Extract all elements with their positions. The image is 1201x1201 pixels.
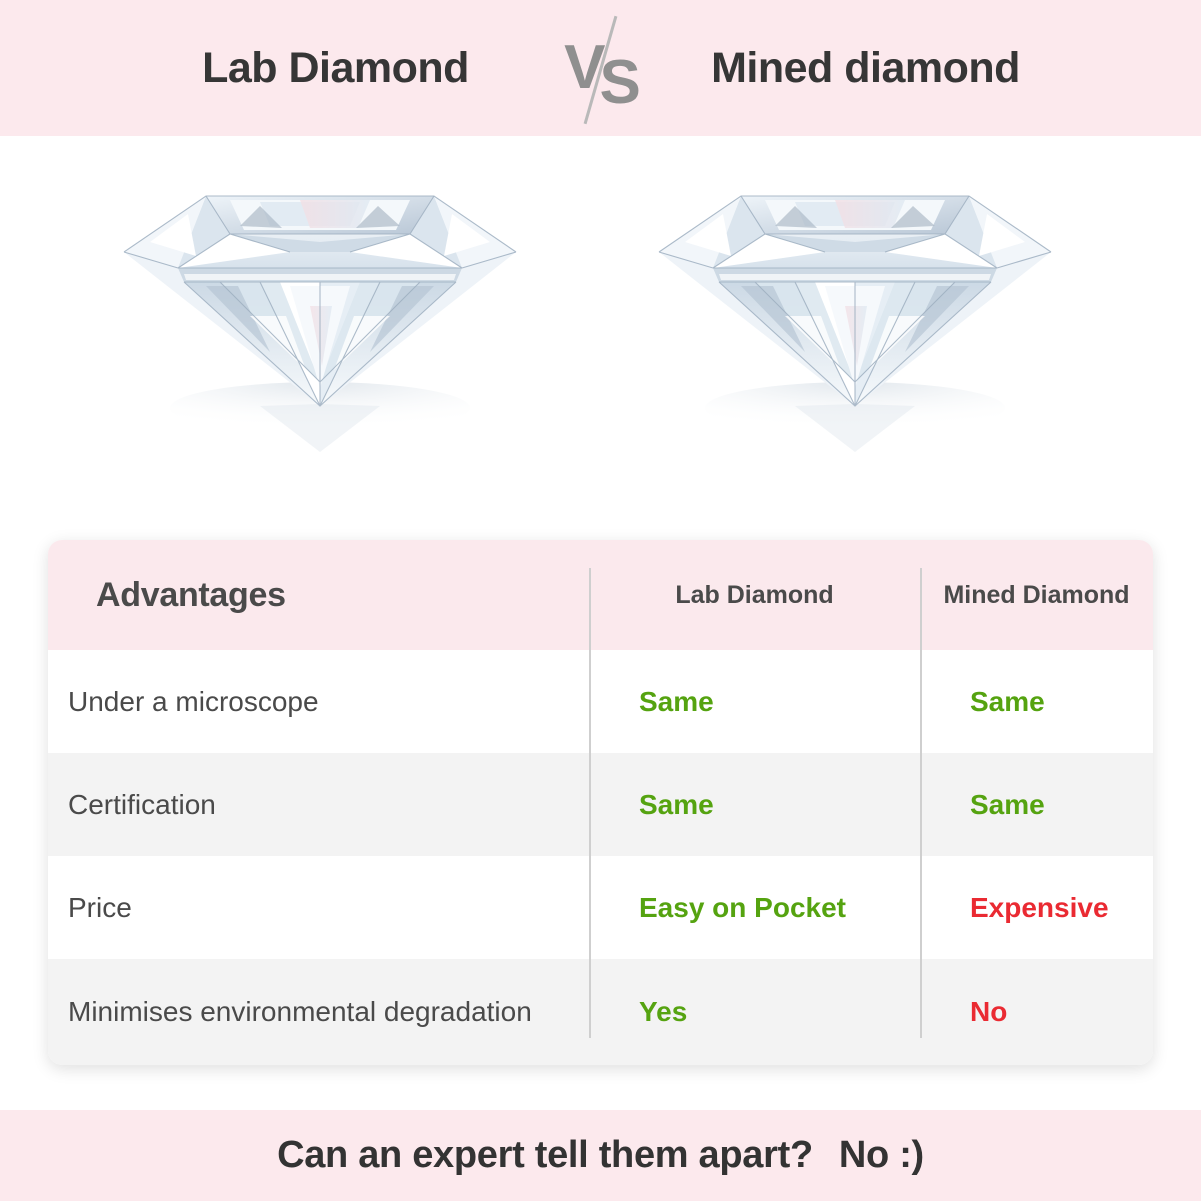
versus-separator: VS — [546, 8, 656, 128]
table-row: Price Easy on Pocket Expensive — [48, 856, 1153, 959]
row-feature-label: Certification — [68, 753, 568, 856]
diamond-image-area — [0, 136, 1201, 536]
header-band: Lab Diamond VS Mined diamond — [0, 0, 1201, 136]
row-lab-value: Yes — [589, 959, 920, 1065]
diamond-icon — [110, 156, 530, 456]
footer-question: Can an expert tell them apart? — [277, 1134, 813, 1177]
column-header-lab-diamond: Lab Diamond — [589, 540, 920, 650]
header-title-mined: Mined diamond — [656, 44, 1076, 93]
footer-answer: No :) — [839, 1134, 924, 1177]
mined-diamond-image — [645, 156, 1065, 456]
column-header-mined-diamond: Mined Diamond — [920, 540, 1153, 650]
comparison-table: Advantages Lab Diamond Mined Diamond Und… — [48, 540, 1153, 1065]
row-mined-value: Expensive — [920, 856, 1153, 959]
column-divider — [589, 568, 591, 1038]
lab-diamond-image — [110, 156, 530, 456]
footer-band: Can an expert tell them apart? No :) — [0, 1110, 1201, 1201]
header-title-lab: Lab Diamond — [126, 44, 546, 93]
table-row: Certification Same Same — [48, 753, 1153, 856]
row-feature-label: Minimises environmental degradation — [68, 959, 568, 1065]
column-header-advantages: Advantages — [96, 540, 286, 650]
row-feature-label: Under a microscope — [68, 650, 568, 753]
row-feature-label: Price — [68, 856, 568, 959]
row-lab-value: Easy on Pocket — [589, 856, 920, 959]
row-mined-value: Same — [920, 650, 1153, 753]
row-lab-value: Same — [589, 650, 920, 753]
table-header-row: Advantages Lab Diamond Mined Diamond — [48, 540, 1153, 650]
table-row: Under a microscope Same Same — [48, 650, 1153, 753]
row-lab-value: Same — [589, 753, 920, 856]
vs-letter-s: S — [600, 52, 637, 114]
row-mined-value: Same — [920, 753, 1153, 856]
diamond-icon — [645, 156, 1065, 456]
column-divider — [920, 568, 922, 1038]
table-row: Minimises environmental degradation Yes … — [48, 959, 1153, 1065]
row-mined-value: No — [920, 959, 1153, 1065]
